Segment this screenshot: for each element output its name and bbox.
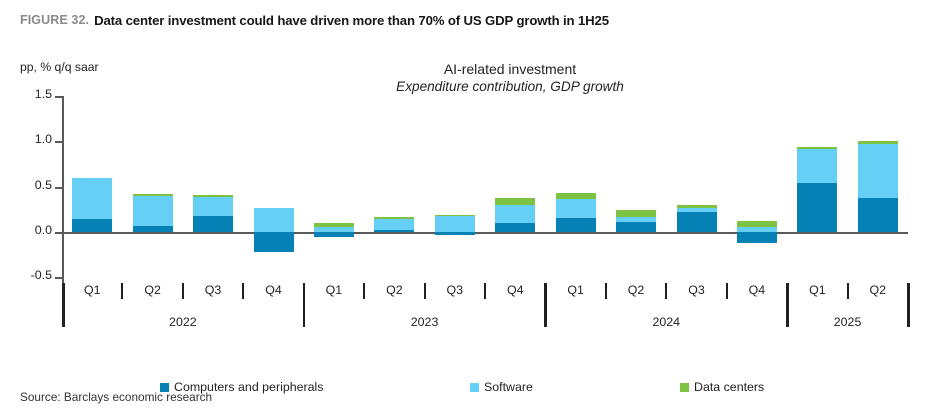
x-axis-quarter-label: Q1	[304, 283, 364, 297]
bar-segment-software[interactable]	[254, 208, 294, 232]
figure-number: FIGURE 32.	[20, 13, 89, 27]
bar-group[interactable]	[133, 88, 173, 288]
bar-segment-computers[interactable]	[133, 226, 173, 232]
bar-segment-datacenters[interactable]	[616, 210, 656, 217]
y-axis-tick-label: -0.5	[10, 268, 52, 282]
legend-item[interactable]: Data centers	[680, 380, 764, 394]
bar-segment-software[interactable]	[435, 216, 475, 232]
bar-segment-computers[interactable]	[374, 230, 414, 232]
legend-swatch-icon	[470, 383, 479, 392]
legend-label: Software	[484, 380, 533, 394]
legend-label: Data centers	[694, 380, 764, 394]
figure-header: FIGURE 32. Data center investment could …	[20, 8, 930, 32]
bar-group[interactable]	[435, 88, 475, 288]
x-axis-quarter-label: Q3	[183, 283, 243, 297]
legend-swatch-icon	[680, 383, 689, 392]
plot-area: 1.51.00.50.0-0.5	[62, 88, 908, 288]
bar-segment-software[interactable]	[737, 227, 777, 232]
bar-segment-software[interactable]	[495, 205, 535, 223]
bar-group[interactable]	[797, 88, 837, 288]
bar-segment-software[interactable]	[314, 227, 354, 232]
x-axis-quarter-label: Q4	[727, 283, 787, 297]
bar-group[interactable]	[677, 88, 717, 288]
x-axis-quarter-label: Q2	[848, 283, 908, 297]
x-axis-quarter-label: Q2	[364, 283, 424, 297]
bar-segment-computers[interactable]	[858, 198, 898, 232]
x-axis-year-label: 2023	[380, 315, 470, 329]
x-axis-year-label: 2025	[803, 315, 893, 329]
x-axis-quarter-label: Q1	[787, 283, 847, 297]
bar-group[interactable]	[314, 88, 354, 288]
bar-segment-computers[interactable]	[737, 232, 777, 243]
y-axis-units-label: pp, % q/q saar	[20, 60, 99, 74]
bar-group[interactable]	[374, 88, 414, 288]
bar-group[interactable]	[737, 88, 777, 288]
x-axis-quarter-label: Q1	[62, 283, 122, 297]
x-axis: Q1Q2Q3Q42022Q1Q2Q3Q42023Q1Q2Q3Q42024Q1Q2…	[62, 281, 912, 371]
bar-segment-datacenters[interactable]	[556, 193, 596, 199]
bar-segment-software[interactable]	[556, 199, 596, 218]
bar-group[interactable]	[858, 88, 898, 288]
bar-segment-computers[interactable]	[254, 232, 294, 252]
chart-container: pp, % q/q saar AI-related investment Exp…	[0, 38, 947, 383]
x-axis-quarter-label: Q1	[546, 283, 606, 297]
bar-segment-datacenters[interactable]	[495, 198, 535, 204]
bar-segment-computers[interactable]	[435, 232, 475, 235]
x-axis-quarter-label: Q3	[667, 283, 727, 297]
bar-segment-datacenters[interactable]	[374, 217, 414, 219]
bar-segment-software[interactable]	[858, 144, 898, 197]
bar-group[interactable]	[556, 88, 596, 288]
bar-segment-computers[interactable]	[677, 212, 717, 232]
year-separator	[907, 283, 910, 327]
x-axis-quarter-label: Q3	[425, 283, 485, 297]
bar-segment-computers[interactable]	[616, 222, 656, 232]
source-note: Source: Barclays economic research	[20, 390, 212, 404]
x-axis-quarter-label: Q4	[485, 283, 545, 297]
bar-segment-software[interactable]	[72, 178, 112, 220]
x-axis-year-label: 2022	[138, 315, 228, 329]
x-axis-quarter-label: Q4	[244, 283, 304, 297]
bar-segment-software[interactable]	[374, 219, 414, 230]
bar-segment-computers[interactable]	[314, 232, 354, 237]
bar-group[interactable]	[616, 88, 656, 288]
bar-segment-computers[interactable]	[797, 183, 837, 232]
bar-group[interactable]	[72, 88, 112, 288]
bar-segment-software[interactable]	[616, 217, 656, 222]
legend-item[interactable]: Software	[470, 380, 533, 394]
bar-segment-datacenters[interactable]	[133, 194, 173, 196]
y-axis-tick-label: 0.0	[10, 223, 52, 237]
bar-segment-computers[interactable]	[495, 223, 535, 232]
bar-segment-software[interactable]	[193, 197, 233, 216]
bar-segment-datacenters[interactable]	[797, 147, 837, 149]
bar-segment-datacenters[interactable]	[677, 205, 717, 209]
bar-group[interactable]	[495, 88, 535, 288]
chart-title: AI-related investment	[300, 60, 720, 78]
bar-series-group	[62, 88, 908, 288]
bar-segment-computers[interactable]	[556, 218, 596, 232]
y-axis-tick-label: 0.5	[10, 178, 52, 192]
y-axis-tick-label: 1.0	[10, 132, 52, 146]
x-axis-year-label: 2024	[621, 315, 711, 329]
bar-segment-software[interactable]	[133, 196, 173, 226]
bar-segment-datacenters[interactable]	[858, 141, 898, 144]
bar-segment-datacenters[interactable]	[193, 195, 233, 197]
chart-legend: Computers and peripheralsSoftwareData ce…	[160, 380, 860, 400]
bar-segment-datacenters[interactable]	[314, 223, 354, 228]
bar-group[interactable]	[193, 88, 233, 288]
x-axis-quarter-label: Q2	[123, 283, 183, 297]
y-axis-tick-label: 1.5	[10, 87, 52, 101]
bar-segment-software[interactable]	[677, 208, 717, 212]
bar-segment-computers[interactable]	[193, 216, 233, 232]
bar-segment-datacenters[interactable]	[435, 215, 475, 216]
bar-group[interactable]	[254, 88, 294, 288]
bar-segment-datacenters[interactable]	[737, 221, 777, 227]
bar-segment-software[interactable]	[797, 149, 837, 183]
bar-segment-computers[interactable]	[72, 219, 112, 232]
x-axis-quarter-label: Q2	[606, 283, 666, 297]
figure-title: Data center investment could have driven…	[94, 13, 609, 28]
